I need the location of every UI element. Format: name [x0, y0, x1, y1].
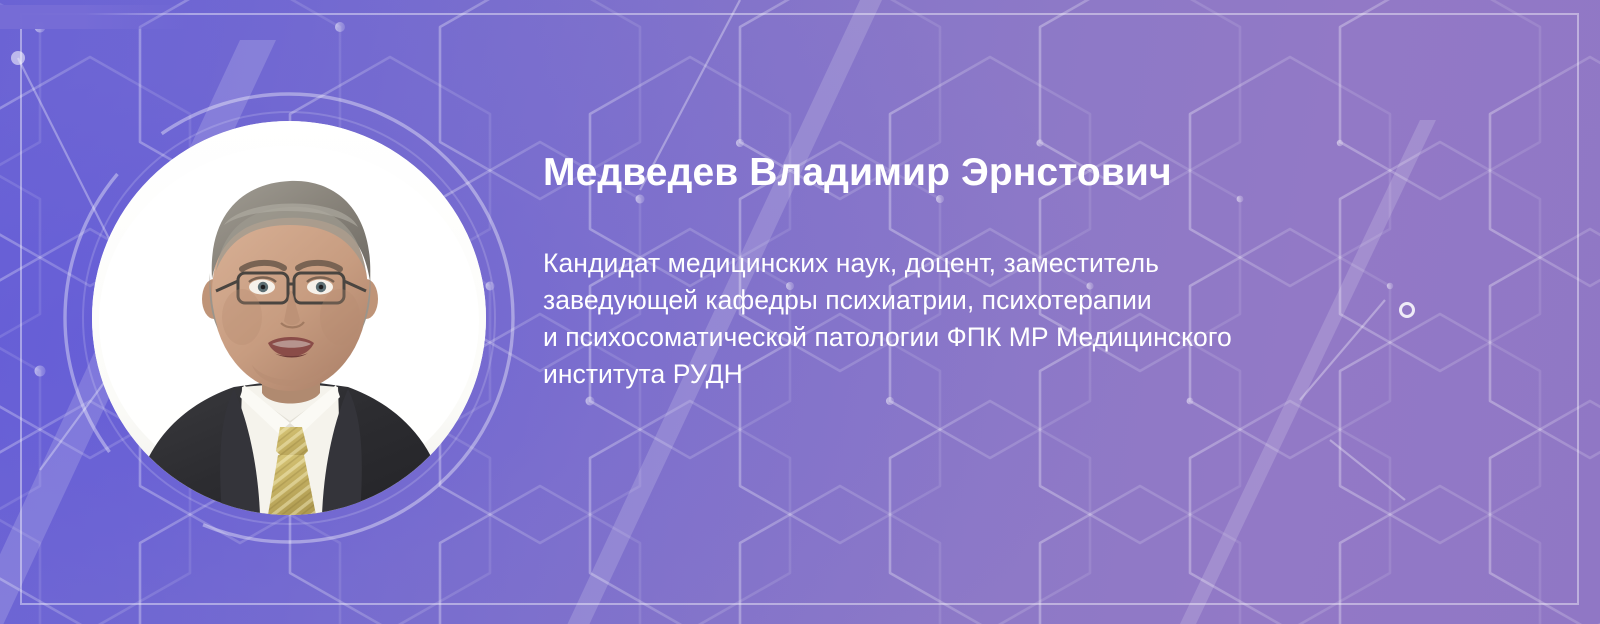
speaker-portrait [92, 121, 486, 515]
speaker-photo [92, 121, 486, 515]
speaker-text-block: Медведев Владимир Эрнстович Кандидат мед… [543, 150, 1533, 393]
bio-line-3: и психосоматической патологии ФПК МР Мед… [543, 319, 1533, 356]
portrait-circle-mask [92, 121, 486, 515]
bio-line-2: заведующей кафедры психиатрии, психотера… [543, 282, 1533, 319]
bio-line-4: института РУДН [543, 356, 1533, 393]
frame-top-fade [0, 5, 190, 29]
speaker-name: Медведев Владимир Эрнстович [543, 150, 1533, 196]
speaker-banner: Медведев Владимир Эрнстович Кандидат мед… [0, 0, 1600, 624]
bio-line-1: Кандидат медицинских наук, доцент, замес… [543, 245, 1533, 282]
speaker-bio: Кандидат медицинских наук, доцент, замес… [543, 196, 1533, 393]
